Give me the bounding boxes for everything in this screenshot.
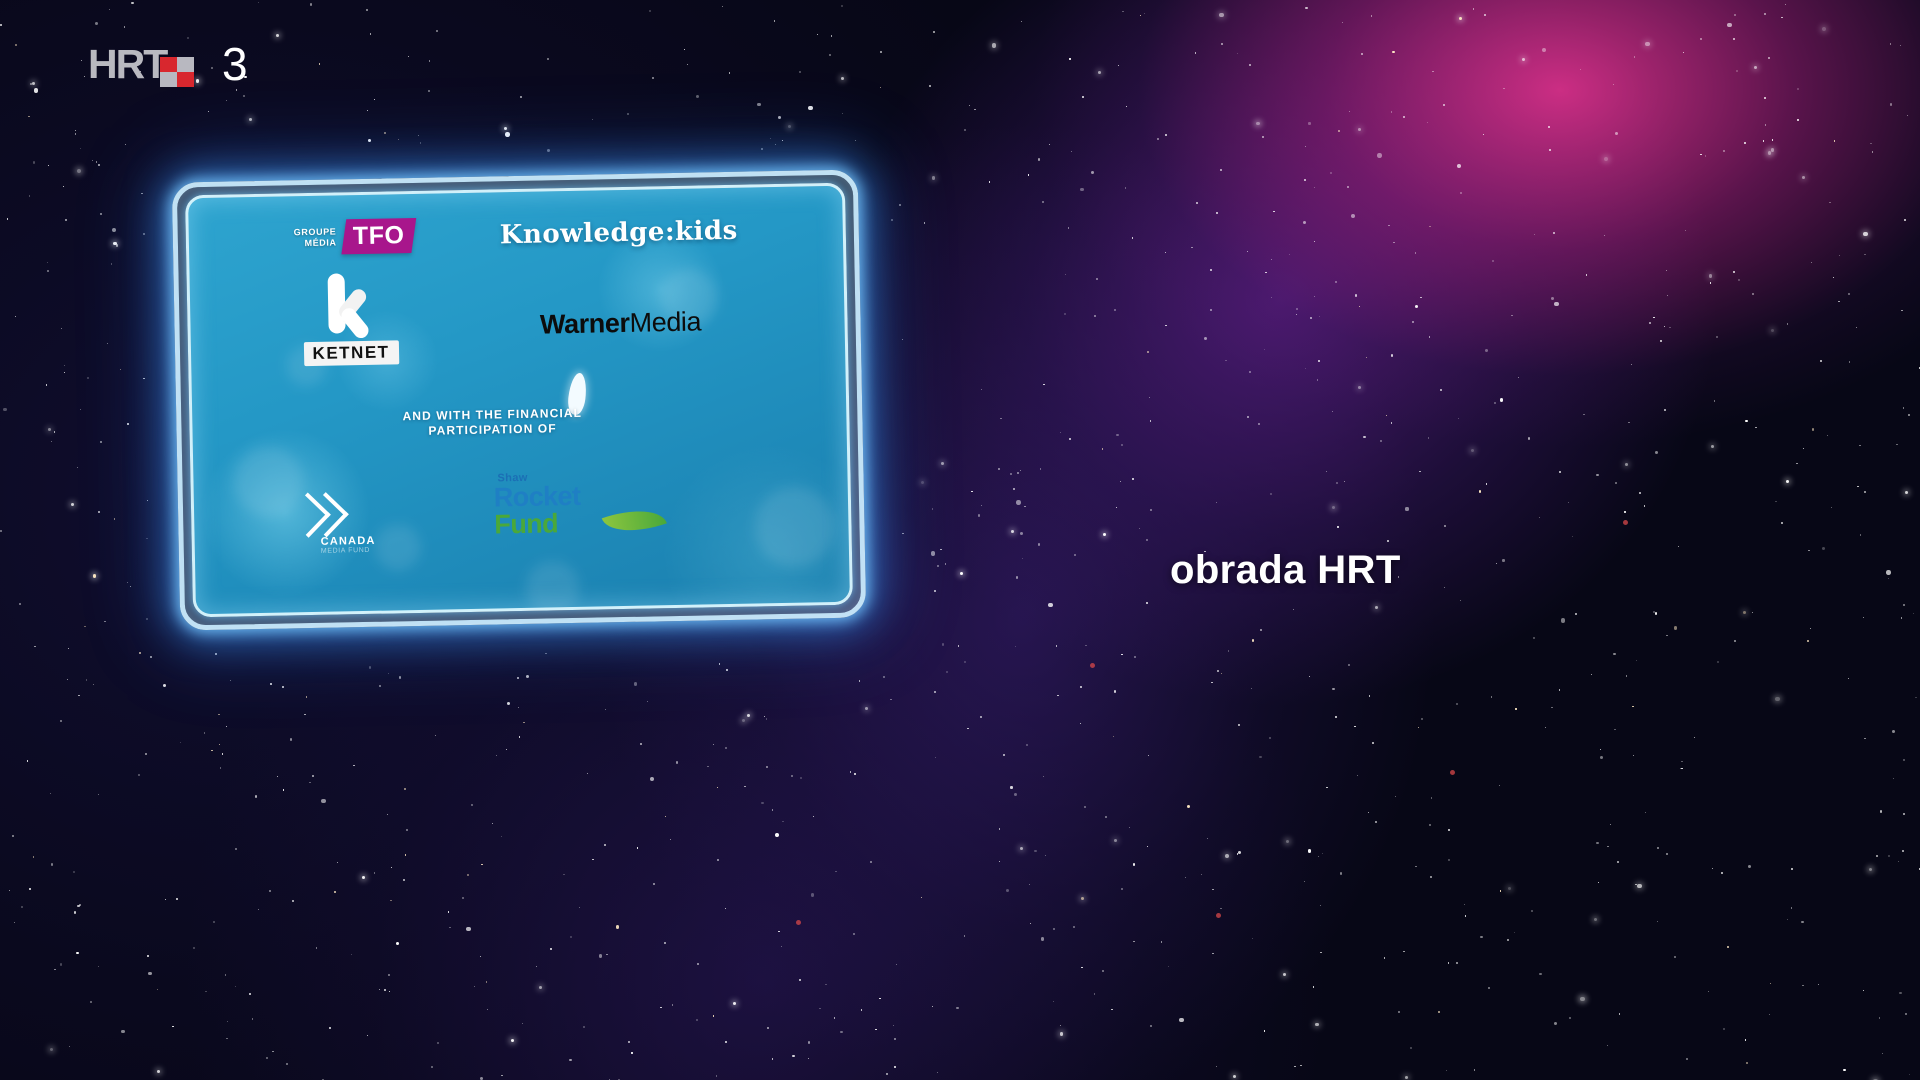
star	[1763, 140, 1764, 141]
star	[1768, 151, 1771, 154]
star	[276, 34, 279, 37]
star	[1187, 805, 1190, 808]
star	[150, 656, 152, 658]
star	[389, 991, 390, 992]
star	[676, 761, 678, 763]
star	[1000, 418, 1001, 419]
star	[1518, 377, 1519, 378]
star	[829, 54, 831, 56]
star	[631, 1052, 632, 1053]
star	[1388, 225, 1389, 226]
star	[1225, 854, 1230, 859]
star	[853, 933, 855, 935]
star	[1893, 778, 1894, 779]
star	[227, 1021, 228, 1022]
star	[437, 1042, 439, 1044]
star	[1781, 522, 1783, 524]
star	[842, 113, 843, 114]
star	[971, 491, 972, 492]
star	[312, 775, 314, 777]
star	[1710, 282, 1711, 283]
star	[1901, 617, 1902, 618]
star	[1247, 416, 1249, 418]
star	[1146, 602, 1148, 604]
star	[1355, 294, 1357, 296]
star	[1818, 984, 1819, 985]
star	[1201, 874, 1202, 875]
star	[1021, 21, 1022, 22]
star	[501, 836, 502, 837]
star	[78, 695, 79, 696]
hrt-checker-square-gray-1	[177, 57, 194, 72]
star	[366, 9, 368, 11]
star	[272, 1051, 273, 1052]
star	[945, 563, 946, 564]
star	[1669, 327, 1670, 328]
star	[1375, 821, 1377, 823]
star	[782, 821, 783, 822]
star	[1797, 88, 1799, 90]
star	[1252, 639, 1254, 641]
star	[1764, 97, 1766, 99]
star	[222, 753, 223, 754]
star	[1869, 868, 1872, 871]
star	[766, 766, 768, 768]
star	[1219, 13, 1224, 18]
star	[628, 1041, 629, 1042]
star	[1314, 187, 1315, 188]
star	[1460, 600, 1461, 601]
star	[647, 701, 648, 702]
star	[1711, 445, 1714, 448]
star	[77, 169, 82, 174]
star	[1195, 52, 1196, 53]
star	[1391, 354, 1393, 356]
star	[1081, 967, 1082, 968]
star	[1743, 611, 1746, 614]
star	[1313, 986, 1314, 987]
star	[890, 699, 891, 700]
star	[772, 1058, 773, 1059]
star	[808, 106, 813, 111]
star	[1168, 966, 1169, 967]
star	[1220, 908, 1221, 909]
star	[1904, 219, 1906, 221]
star	[1681, 768, 1682, 769]
star	[1903, 813, 1905, 815]
star	[1902, 850, 1904, 852]
star	[1133, 863, 1135, 865]
star	[772, 809, 773, 810]
star	[1464, 904, 1465, 905]
star	[1084, 806, 1086, 808]
star	[1644, 505, 1645, 506]
star	[1377, 153, 1382, 158]
star	[1320, 905, 1321, 906]
star	[74, 911, 76, 913]
star	[1335, 281, 1336, 282]
star	[1349, 111, 1350, 112]
star	[1335, 716, 1336, 717]
star	[77, 905, 79, 907]
star	[850, 771, 851, 772]
star	[1539, 973, 1541, 975]
star	[1421, 718, 1422, 719]
star	[1304, 179, 1306, 181]
star	[1551, 707, 1552, 708]
star	[791, 775, 793, 777]
hrt-logo-mark: HRT	[88, 42, 206, 86]
star	[1029, 884, 1030, 885]
star	[1368, 812, 1369, 813]
star	[1633, 755, 1634, 756]
star	[841, 77, 844, 80]
star	[1583, 414, 1584, 415]
star	[969, 105, 970, 106]
star	[1237, 853, 1238, 854]
star	[1613, 653, 1615, 655]
star	[1863, 990, 1864, 991]
star	[0, 24, 2, 26]
star	[369, 666, 371, 668]
star	[1432, 71, 1433, 72]
star	[1870, 143, 1871, 144]
star	[1600, 756, 1603, 759]
star	[98, 794, 99, 795]
star	[1694, 737, 1695, 738]
star	[1024, 506, 1025, 507]
star	[1752, 293, 1754, 295]
star	[404, 788, 406, 790]
star	[321, 799, 326, 804]
star	[337, 862, 338, 863]
star	[1657, 921, 1658, 922]
star	[47, 270, 49, 272]
star	[1294, 1066, 1295, 1067]
star	[462, 897, 464, 899]
star	[1249, 371, 1251, 373]
star	[1596, 842, 1598, 844]
star	[1727, 946, 1729, 948]
star	[1314, 296, 1315, 297]
star	[391, 867, 392, 868]
star	[1330, 172, 1332, 174]
star	[124, 26, 125, 27]
star	[1607, 846, 1608, 847]
star	[1714, 400, 1715, 401]
star	[1575, 613, 1577, 615]
star	[539, 986, 542, 989]
star	[1013, 488, 1015, 490]
star	[215, 653, 217, 655]
canada-media-fund-chevron-icon	[292, 481, 355, 550]
star	[1431, 797, 1432, 798]
star	[258, 2, 259, 3]
star	[1121, 654, 1122, 655]
star	[1440, 389, 1442, 391]
star	[1247, 251, 1248, 252]
star	[1491, 696, 1492, 697]
star	[517, 677, 519, 679]
star	[825, 984, 826, 985]
star	[1308, 122, 1310, 124]
star	[1102, 448, 1103, 449]
star	[1542, 48, 1547, 53]
star	[1572, 536, 1573, 537]
star	[1471, 449, 1474, 452]
star	[1392, 51, 1394, 53]
star	[1391, 111, 1392, 112]
star	[1480, 936, 1482, 938]
star	[30, 83, 32, 85]
logo-ketnet: KETNET	[290, 272, 412, 366]
star	[717, 859, 719, 861]
star	[725, 908, 726, 909]
star	[1322, 853, 1323, 854]
star	[880, 51, 882, 53]
star	[486, 981, 487, 982]
star	[487, 1009, 488, 1010]
star	[1132, 478, 1134, 480]
star	[379, 989, 380, 990]
star	[100, 213, 101, 214]
star	[1016, 500, 1021, 505]
star	[1666, 635, 1667, 636]
star	[96, 161, 97, 162]
tfo-groupe-line-2: MÉDIA	[294, 237, 337, 249]
star	[1320, 952, 1321, 953]
star	[1808, 550, 1809, 551]
star	[767, 1027, 769, 1029]
star	[1678, 546, 1679, 547]
star	[1196, 202, 1198, 204]
star	[1863, 617, 1864, 618]
star	[1598, 882, 1599, 883]
star	[304, 714, 305, 715]
star	[649, 10, 651, 12]
star	[799, 71, 800, 72]
star	[1674, 956, 1676, 958]
star	[1113, 736, 1114, 737]
star	[1734, 640, 1736, 642]
star	[1522, 58, 1525, 61]
star	[266, 1057, 268, 1059]
star	[172, 1026, 173, 1027]
star	[653, 883, 655, 885]
star	[1733, 38, 1735, 40]
star	[121, 1030, 124, 1033]
star	[1366, 357, 1367, 358]
star	[1448, 859, 1449, 860]
star	[883, 676, 884, 677]
star	[1418, 727, 1419, 728]
star	[390, 900, 391, 901]
star	[54, 969, 55, 970]
star	[1030, 923, 1031, 924]
star	[1251, 688, 1252, 689]
card-inner-panel: GROUPE MÉDIA TFO Knowledge:kids KETNE	[185, 183, 853, 618]
star	[1126, 106, 1127, 107]
star	[519, 736, 520, 737]
star	[1147, 846, 1148, 847]
star	[147, 955, 149, 957]
star	[467, 874, 468, 875]
star	[399, 676, 401, 678]
star	[1114, 309, 1116, 311]
star	[1252, 938, 1253, 939]
star	[1600, 749, 1601, 750]
star	[1238, 851, 1241, 854]
star	[964, 661, 966, 663]
star	[403, 879, 405, 881]
star	[1901, 310, 1902, 311]
star	[921, 897, 922, 898]
star	[1340, 872, 1342, 874]
star	[1807, 640, 1809, 642]
star	[388, 974, 390, 976]
star	[956, 1007, 958, 1009]
star	[1010, 473, 1012, 475]
star	[218, 714, 219, 715]
star	[319, 63, 320, 64]
star	[1500, 398, 1503, 401]
star	[1337, 526, 1338, 527]
star	[466, 927, 471, 932]
star	[764, 716, 765, 717]
star	[32, 82, 35, 85]
star	[143, 378, 144, 379]
star	[1220, 169, 1222, 171]
star	[1225, 360, 1226, 361]
star	[627, 113, 629, 115]
star	[77, 467, 78, 468]
star	[792, 1055, 794, 1057]
star	[138, 774, 140, 776]
star	[522, 1023, 523, 1024]
star	[526, 675, 529, 678]
star	[1666, 853, 1668, 855]
star	[249, 993, 251, 995]
star	[1769, 1014, 1770, 1015]
star	[1380, 440, 1382, 442]
star	[1393, 242, 1394, 243]
star	[1738, 279, 1740, 281]
star	[893, 1025, 894, 1026]
star	[1614, 729, 1615, 730]
star	[436, 30, 438, 32]
star	[1133, 941, 1134, 942]
star	[481, 864, 482, 865]
star	[34, 88, 39, 93]
star	[998, 468, 1000, 470]
star	[742, 719, 745, 722]
star	[270, 683, 272, 685]
star	[1326, 787, 1327, 788]
star	[1332, 506, 1335, 509]
star	[1144, 13, 1145, 14]
channel-logo: HRT 3	[88, 42, 248, 86]
tfo-groupe-media-text: GROUPE MÉDIA	[294, 226, 337, 249]
star	[205, 991, 206, 992]
star	[1129, 827, 1130, 828]
star	[1502, 559, 1504, 561]
star	[1412, 321, 1413, 322]
star	[547, 58, 549, 60]
star	[211, 750, 212, 751]
star	[310, 3, 312, 5]
star	[1271, 297, 1272, 298]
star	[54, 431, 55, 432]
star	[1619, 1013, 1620, 1014]
star	[1596, 474, 1598, 476]
star	[165, 899, 166, 900]
star	[879, 998, 880, 999]
star	[1723, 150, 1725, 152]
star	[1102, 970, 1104, 972]
star	[406, 829, 408, 831]
star	[1615, 482, 1617, 484]
star	[90, 1001, 92, 1003]
star	[563, 874, 564, 875]
star	[1632, 706, 1633, 707]
star	[1132, 237, 1133, 238]
star	[1359, 306, 1360, 307]
star	[1265, 272, 1266, 273]
star	[1041, 937, 1044, 940]
star	[431, 1066, 433, 1068]
star	[204, 732, 205, 733]
star	[1114, 690, 1116, 692]
star	[1907, 115, 1908, 116]
star	[220, 767, 221, 768]
star	[1810, 628, 1811, 629]
star	[1446, 1070, 1447, 1071]
star	[1003, 754, 1004, 755]
star	[1357, 775, 1358, 776]
rocket-wordmark: Rocket	[494, 481, 684, 512]
star	[722, 6, 723, 7]
star	[1010, 786, 1012, 788]
star	[146, 618, 148, 620]
star	[1849, 361, 1850, 362]
star	[523, 722, 524, 723]
star	[1040, 468, 1041, 469]
star	[1210, 269, 1212, 271]
star	[1716, 336, 1717, 337]
star	[1308, 849, 1311, 852]
star	[1303, 221, 1306, 224]
star	[1305, 368, 1306, 369]
star	[269, 890, 271, 892]
star	[1908, 414, 1910, 416]
star	[1444, 525, 1446, 527]
star	[505, 132, 510, 137]
star	[637, 847, 638, 848]
star	[27, 760, 28, 761]
star	[819, 1008, 820, 1009]
star	[550, 948, 551, 949]
star	[1734, 14, 1736, 16]
star	[492, 823, 493, 824]
star	[859, 680, 860, 681]
hrt-checker-square-red-1	[160, 57, 177, 72]
star	[1492, 260, 1494, 262]
star	[1221, 673, 1222, 674]
star	[1736, 70, 1738, 72]
star	[1043, 776, 1044, 777]
star	[781, 946, 782, 947]
star	[1900, 45, 1901, 46]
